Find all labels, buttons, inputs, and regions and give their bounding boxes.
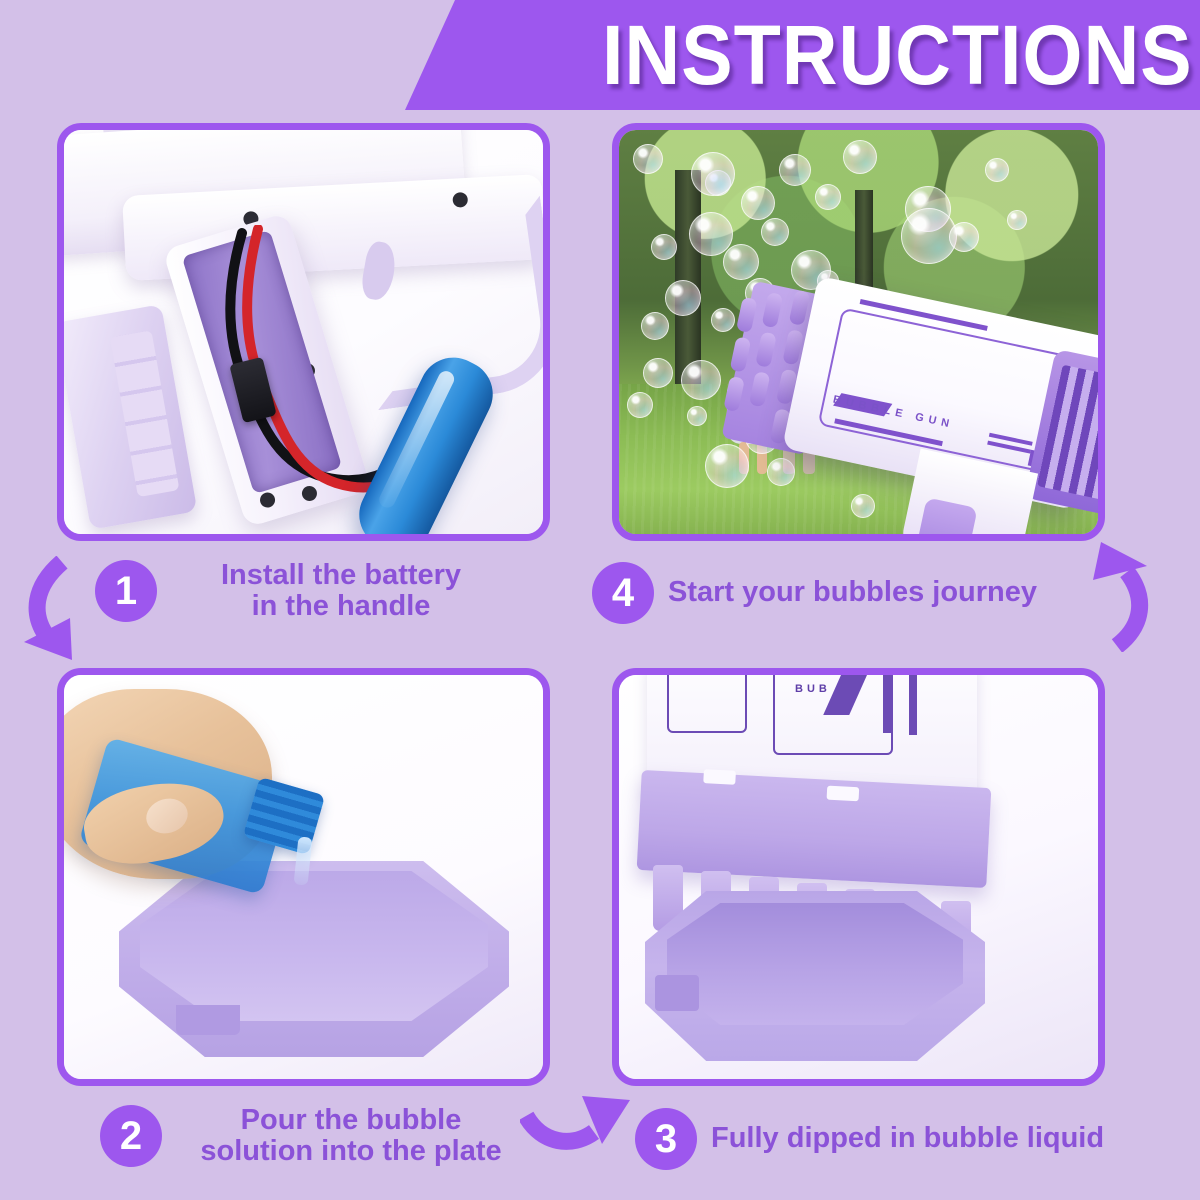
nozzle [761,292,783,328]
gun-decal-bar [883,668,893,733]
step-number-badge-2: 2 [100,1105,162,1167]
bubble [985,158,1009,182]
bubble [633,144,663,174]
bubble [711,308,735,332]
bubble [705,444,749,488]
step-1-photo-panel [57,123,550,541]
nozzle-block [637,770,992,888]
step-4-caption-row: 4 Start your bubbles journey [592,562,1062,624]
bubble [815,184,841,210]
bubble [627,392,653,418]
cover-ribs [110,330,179,497]
step-2-caption: Pour the bubble solution into the plate [176,1105,526,1168]
latch-tab [703,769,736,785]
step-4-caption: Start your bubbles journey [668,577,1037,608]
bubble [843,140,877,174]
outdoor-play-photo: BUBBLE GUN [619,130,1098,534]
bubble [691,152,735,196]
gun-decal-frame [667,669,747,733]
step-number-badge-4: 4 [592,562,654,624]
arrow-step1-to-step2-icon [8,556,92,662]
bubble [761,218,789,246]
bubble [741,186,775,220]
step-4-photo-panel: BUBBLE GUN [612,123,1105,541]
bubble [651,234,677,260]
step-1-caption-row: 1 Install the battery in the handle [95,560,535,623]
pour-solution-photo [64,675,543,1079]
bubble-plate-basin [667,903,963,1025]
bubble [851,494,875,518]
nozzle [749,371,771,407]
bubble [687,406,707,426]
step-2-caption-row: 2 Pour the bubble solution into the plat… [100,1105,540,1168]
step-2-photo-panel [57,668,550,1086]
battery-cover [57,304,197,530]
bubble [767,458,795,486]
dip-nozzles-photo: BUB [619,675,1098,1079]
plate-notch [655,975,699,1011]
bubble [949,222,979,252]
instructions-infographic: INSTRUCTIONS [0,0,1200,1200]
bubble [779,154,811,186]
bubble [641,312,669,340]
page-title: INSTRUCTIONS [96,0,1200,110]
latch-tab [827,786,860,802]
step-3-caption: Fully dipped in bubble liquid [711,1123,1104,1154]
gun-decal-bar [909,668,917,735]
plate-notch [176,1005,240,1035]
bubble [665,280,701,316]
arrow-step2-to-step3-icon [520,1082,646,1168]
nozzle [755,332,777,368]
bubble [723,244,759,280]
bubble-plate-basin [140,871,488,1021]
step-3-caption-row: 3 Fully dipped in bubble liquid [635,1108,1105,1170]
step-1-caption: Install the battery in the handle [171,560,511,623]
bubble [643,358,673,388]
battery-install-photo [64,130,543,534]
arrow-step3-to-step4-icon [1083,540,1171,652]
step-number-badge-1: 1 [95,560,157,622]
step-3-photo-panel: BUB [612,668,1105,1086]
nozzle [789,290,811,326]
bubble [1007,210,1027,230]
gun-brand-label: BUB [795,683,831,695]
bubble [681,360,721,400]
